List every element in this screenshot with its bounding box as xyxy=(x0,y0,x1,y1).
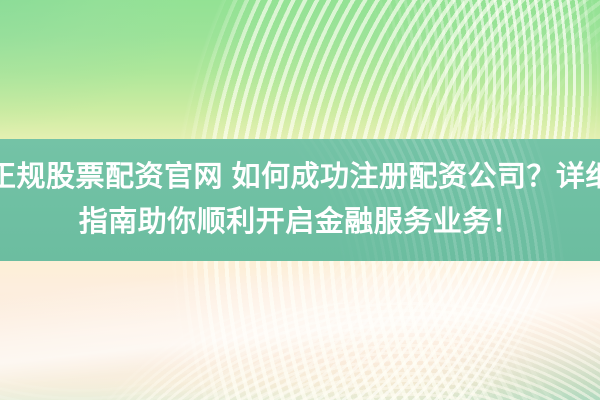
headline-line-2: 指南助你顺利开启金融服务业务！ xyxy=(79,200,522,245)
headline-band: 正规股票配资官网 如何成功注册配资公司？详细 指南助你顺利开启金融服务业务！ xyxy=(0,139,600,261)
headline-line-1: 正规股票配资官网 如何成功注册配资公司？详细 xyxy=(0,155,600,200)
promo-banner: 正规股票配资官网 如何成功注册配资公司？详细 指南助你顺利开启金融服务业务！ xyxy=(0,0,600,400)
